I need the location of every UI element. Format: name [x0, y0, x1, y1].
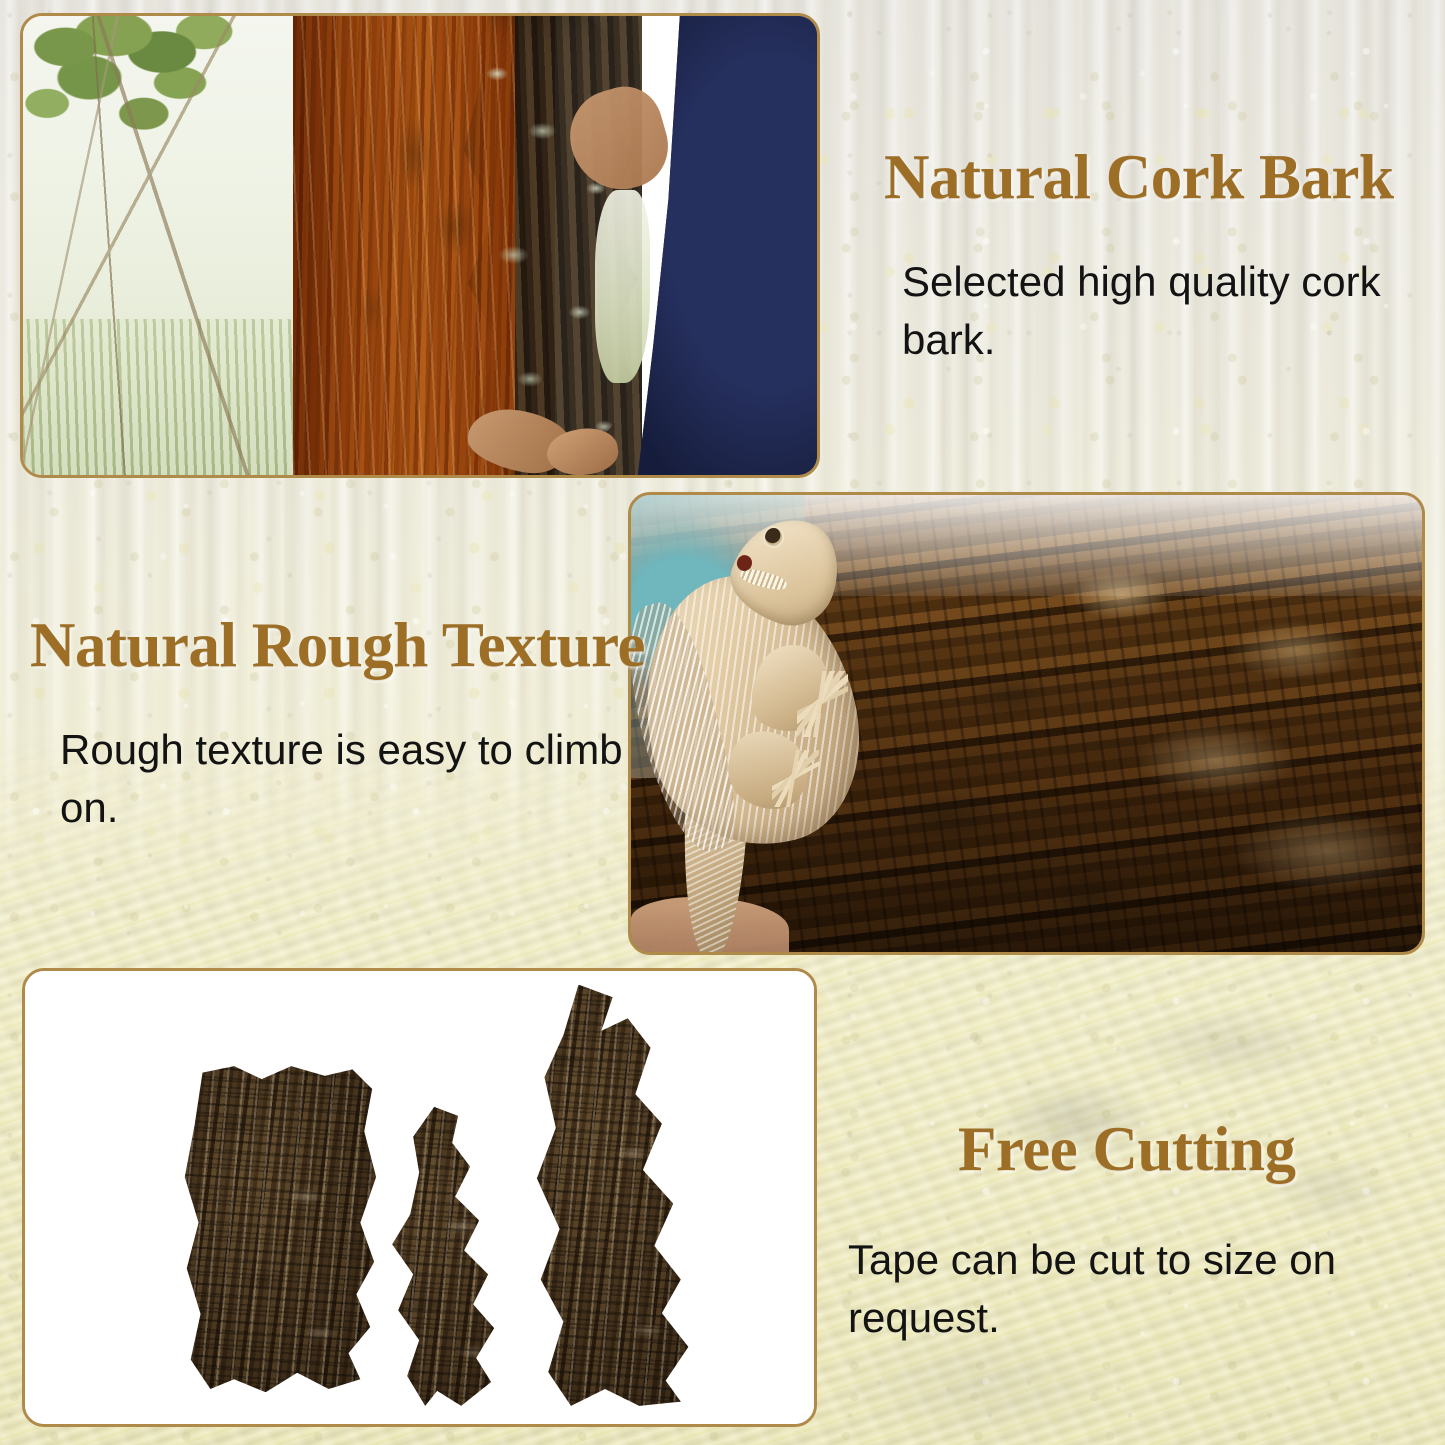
- cork-slab-left: [183, 1066, 380, 1392]
- photo-cork-pieces: [25, 971, 814, 1424]
- feature-title-cork-bark: Natural Cork Bark: [884, 146, 1384, 209]
- bearded-dragon: [639, 513, 955, 952]
- feature-block-free-cutting: Free Cutting Tape can be cut to size on …: [958, 1118, 1438, 1347]
- cork-slab-texture: [183, 1066, 380, 1392]
- feature-body-rough-texture: Rough texture is easy to climb on.: [60, 721, 630, 837]
- feature-title-rough-texture: Natural Rough Texture: [30, 614, 630, 677]
- photo-panel-lizard-bark: [628, 492, 1425, 955]
- photo-panel-cork-pieces: [22, 968, 817, 1427]
- feature-body-cork-bark: Selected high quality cork bark.: [902, 253, 1384, 369]
- dragon-hind-foot: [772, 750, 819, 807]
- feature-title-free-cutting: Free Cutting: [958, 1118, 1438, 1181]
- bare-twigs: [23, 16, 325, 475]
- photo-panel-cork-harvest: [20, 13, 820, 478]
- feature-body-free-cutting: Tape can be cut to size on request.: [848, 1231, 1418, 1347]
- photo-cork-harvest: [23, 16, 817, 475]
- feature-block-cork-bark: Natural Cork Bark Selected high quality …: [884, 146, 1384, 369]
- dragon-front-foot: [797, 671, 848, 737]
- worker-navy-shirt: [626, 16, 817, 475]
- photo-lizard-bark: [631, 495, 1422, 952]
- infographic-page: Natural Cork Bark Selected high quality …: [0, 0, 1445, 1445]
- feature-block-rough-texture: Natural Rough Texture Rough texture is e…: [30, 614, 630, 837]
